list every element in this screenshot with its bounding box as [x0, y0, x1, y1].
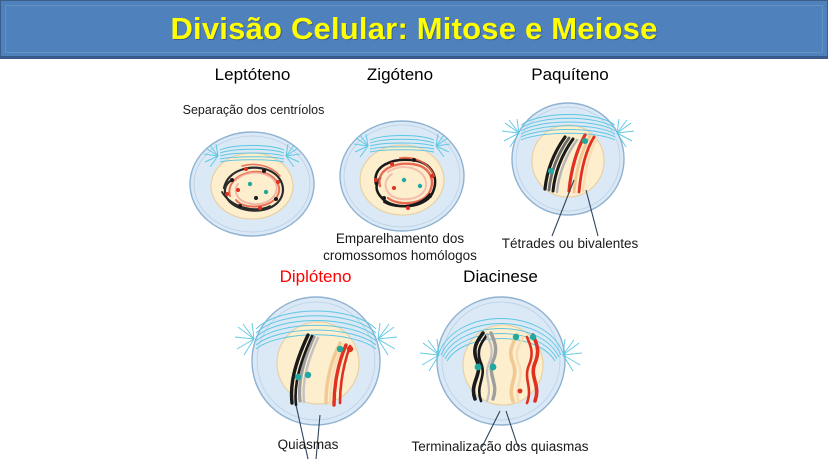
phase-label-diploteno: Diplóteno — [228, 267, 403, 287]
cell-illustration-zigoteno — [322, 114, 482, 239]
centromere — [295, 374, 301, 380]
centriole-aster-right — [563, 339, 582, 371]
slide-title-bar: Divisão Celular: Mitose e Meiose — [0, 0, 828, 59]
phase-label-leptoteno: Leptóteno — [160, 65, 345, 85]
phase-leptoteno: Leptóteno Separação dos centríolos — [160, 59, 345, 244]
phase-diploteno: Diplóteno — [228, 259, 403, 464]
centromere — [337, 346, 343, 352]
centromere — [582, 138, 588, 144]
centromere — [347, 346, 353, 352]
phase-zigoteno: Zigóteno — [325, 59, 475, 269]
centromere — [513, 334, 519, 340]
centromere — [305, 372, 311, 378]
leader-lines-diacinese — [408, 389, 593, 469]
centromere — [490, 364, 497, 371]
caption-diploteno: Quiasmas — [238, 437, 378, 454]
centriole-aster-right — [378, 323, 397, 355]
caption-diacinese: Terminalização dos quiasmas — [400, 439, 600, 456]
phase-label-diacinese: Diacinese — [408, 267, 593, 287]
centromere — [530, 334, 536, 340]
phase-paquiteno: Paquíteno — [490, 59, 650, 259]
phase-label-paquiteno: Paquíteno — [490, 65, 650, 85]
centriole-aster-left — [235, 323, 254, 355]
page-title: Divisão Celular: Mitose e Meiose — [170, 11, 657, 47]
caption-paquiteno: Tétrades ou bivalentes — [475, 236, 665, 253]
caption-line: Emparelhamento dos — [300, 231, 500, 248]
centriole-aster-left — [420, 339, 439, 371]
phase-diacinese: Diacinese — [408, 259, 593, 464]
phase-label-zigoteno: Zigóteno — [325, 65, 475, 85]
cell-illustration-leptoteno — [172, 122, 332, 247]
leader-lines-diploteno — [228, 389, 403, 469]
centromere — [475, 364, 482, 371]
meiosis-prophase-diagram: Leptóteno Separação dos centríolos — [0, 59, 828, 466]
